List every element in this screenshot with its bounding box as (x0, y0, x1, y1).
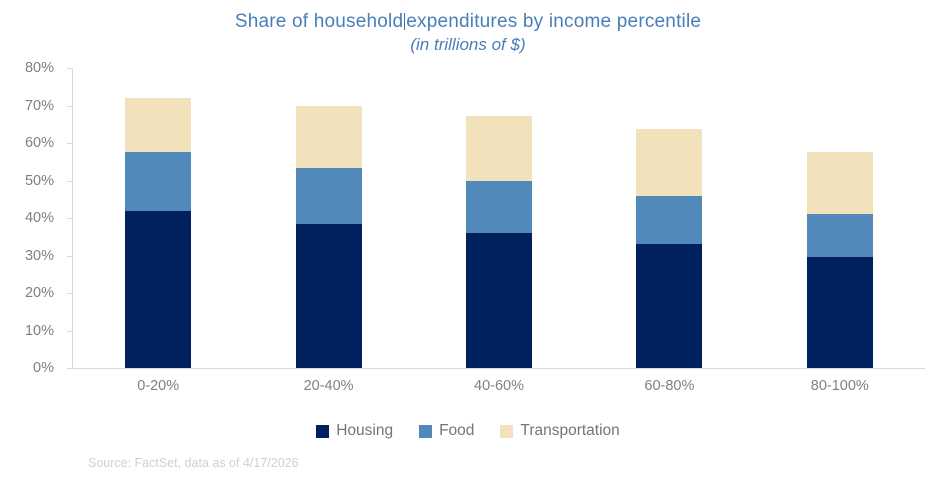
y-axis-tick-label: 70% (25, 98, 54, 114)
bar-segment-transportation[interactable] (296, 106, 362, 169)
y-axis-tick-label: 10% (25, 323, 54, 339)
legend-item[interactable]: Food (419, 422, 474, 440)
bar-segment-housing[interactable] (125, 211, 191, 368)
y-axis-tick-label: 30% (25, 248, 54, 264)
legend-item[interactable]: Transportation (500, 422, 619, 440)
bar-group[interactable] (807, 68, 873, 368)
legend-swatch-icon (500, 425, 513, 438)
plot-area (73, 68, 925, 368)
chart-legend: HousingFoodTransportation (0, 422, 936, 440)
x-axis-tick-label: 60-80% (599, 378, 739, 394)
bar-group[interactable] (466, 68, 532, 368)
bar-series-group (73, 68, 925, 368)
legend-swatch-icon (419, 425, 432, 438)
chart-title-text-before: Share of household (235, 11, 403, 32)
bar-segment-food[interactable] (296, 168, 362, 224)
x-axis-tick-label: 80-100% (770, 378, 910, 394)
x-axis-tick-label: 0-20% (88, 378, 228, 394)
y-axis-tick-label: 60% (25, 135, 54, 151)
y-axis-tick-label: 40% (25, 210, 54, 226)
bar-group[interactable] (125, 68, 191, 368)
chart-container: Share of householdexpenditures by income… (0, 0, 936, 487)
source-note: Source: FactSet, data as of 4/17/2026 (88, 456, 299, 470)
bar-segment-transportation[interactable] (807, 152, 873, 214)
bar-segment-transportation[interactable] (125, 98, 191, 152)
x-axis-tick-label: 40-60% (429, 378, 569, 394)
x-axis-tick-label: 20-40% (259, 378, 399, 394)
bar-segment-housing[interactable] (807, 257, 873, 368)
bar-segment-housing[interactable] (466, 233, 532, 368)
y-axis-tick-mark (67, 368, 73, 369)
y-axis-tick-label: 80% (25, 60, 54, 76)
bar-segment-housing[interactable] (636, 244, 702, 368)
bar-group[interactable] (296, 68, 362, 368)
chart-subtitle: (in trillions of $) (0, 34, 936, 55)
chart-title-text-after: expenditures by income percentile (406, 11, 701, 32)
legend-label: Food (439, 422, 474, 440)
y-axis-tick-label: 0% (33, 360, 54, 376)
x-axis-line (72, 368, 925, 369)
legend-label: Housing (336, 422, 393, 440)
bar-segment-food[interactable] (807, 214, 873, 257)
legend-swatch-icon (316, 425, 329, 438)
chart-title: Share of householdexpenditures by income… (0, 10, 936, 55)
bar-group[interactable] (636, 68, 702, 368)
bar-segment-food[interactable] (125, 152, 191, 211)
legend-label: Transportation (520, 422, 619, 440)
bar-segment-housing[interactable] (296, 224, 362, 368)
chart-title-main: Share of householdexpenditures by income… (0, 10, 936, 34)
bar-segment-transportation[interactable] (466, 116, 532, 181)
x-axis-labels: 0-20%20-40%40-60%60-80%80-100% (73, 378, 925, 400)
y-axis-tick-label: 50% (25, 173, 54, 189)
y-axis-labels: 0%10%20%30%40%50%60%70%80% (0, 68, 64, 368)
y-axis-tick-label: 20% (25, 285, 54, 301)
bar-segment-food[interactable] (466, 181, 532, 234)
bar-segment-food[interactable] (636, 196, 702, 245)
legend-item[interactable]: Housing (316, 422, 393, 440)
bar-segment-transportation[interactable] (636, 129, 702, 195)
